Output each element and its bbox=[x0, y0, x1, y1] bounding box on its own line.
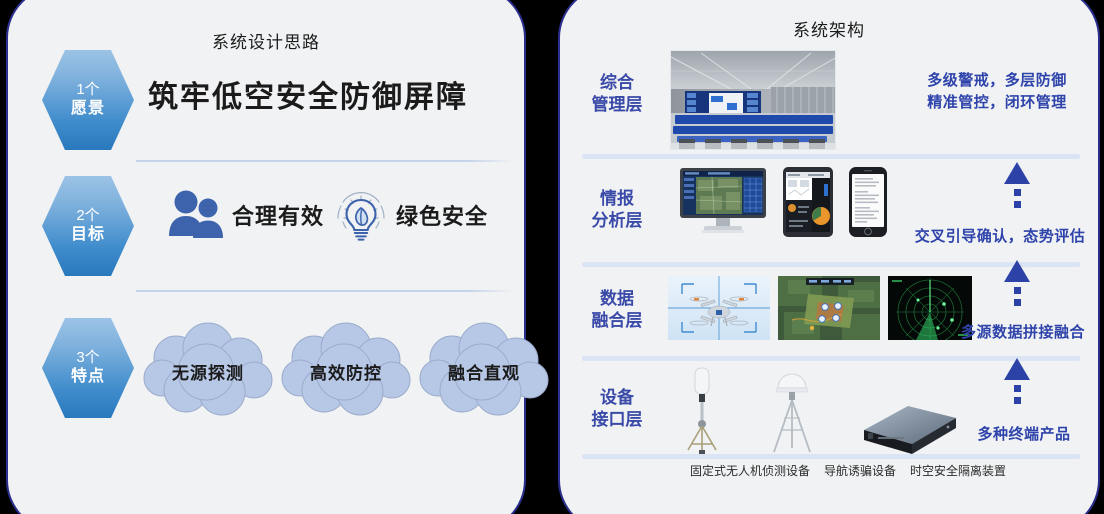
architecture-layer-data-fusion: 数据 融合层 bbox=[560, 266, 1098, 354]
arrow-dash-1 bbox=[1014, 385, 1021, 392]
fixed-antenna-device[interactable] bbox=[676, 364, 728, 461]
media-row-intelligence bbox=[678, 166, 888, 243]
layer-label-data-fusion-line1: 数据 bbox=[578, 288, 656, 310]
arrow-dash-2 bbox=[1014, 201, 1021, 208]
arrow-up-icon bbox=[1004, 358, 1030, 380]
hexagon-features-count: 3个 bbox=[76, 349, 99, 368]
layer-note-management-line1: 多级警戒，多层防御 bbox=[912, 70, 1082, 92]
architecture-layer-equipment: 设备 接口层 bbox=[560, 360, 1098, 458]
layer-note-intelligence-line1: 交叉引导确认，态势评估 bbox=[900, 226, 1100, 248]
layer-note-equipment-line1: 多种终端产品 bbox=[958, 424, 1090, 446]
layer-note-management-line2: 精准管控，闭环管理 bbox=[912, 92, 1082, 114]
divider-1 bbox=[136, 160, 514, 162]
hexagon-vision-count: 1个 bbox=[76, 81, 99, 100]
arrow-up-icon bbox=[1004, 162, 1030, 184]
people-icon bbox=[166, 186, 228, 244]
flow-arrow-data-fusion bbox=[1004, 260, 1030, 306]
design-approach-panel: 系统设计思路 1个 愿景 筑牢低空安全防御屏障 2个 目标 bbox=[6, 0, 526, 514]
goal-item-green[interactable]: 绿色安全 bbox=[330, 184, 488, 246]
layer-label-data-fusion-line2: 融合层 bbox=[578, 310, 656, 332]
vision-row: 1个 愿景 筑牢低空安全防御屏障 bbox=[8, 50, 524, 162]
flow-arrow-equipment bbox=[1004, 358, 1030, 404]
control-room-photo[interactable] bbox=[670, 50, 836, 150]
layer-note-management: 多级警戒，多层防御 精准管控，闭环管理 bbox=[912, 70, 1082, 114]
feature-cloud-2-label: 高效防控 bbox=[310, 359, 382, 384]
media-row-management bbox=[670, 50, 836, 150]
hexagon-features[interactable]: 3个 特点 bbox=[42, 318, 134, 418]
layer-note-intelligence: 交叉引导确认，态势评估 bbox=[900, 226, 1100, 248]
layer-label-intelligence: 情报 分析层 bbox=[578, 188, 656, 232]
satellite-map-photo[interactable] bbox=[778, 276, 880, 345]
layer-label-data-fusion: 数据 融合层 bbox=[578, 288, 656, 332]
goals-list: 合理有效 bbox=[166, 184, 488, 246]
slide-canvas: 系统设计思路 1个 愿景 筑牢低空安全防御屏障 2个 目标 bbox=[0, 0, 1104, 514]
arrow-dash-2 bbox=[1014, 397, 1021, 404]
layer-label-equipment-line2: 接口层 bbox=[578, 409, 656, 431]
architecture-layer-management: 综合 管理层 bbox=[560, 38, 1098, 150]
dome-antenna-tripod[interactable] bbox=[764, 364, 820, 461]
equipment-caption-2: 导航诱骗设备 bbox=[824, 462, 896, 479]
layer-label-management-line2: 管理层 bbox=[578, 94, 656, 116]
layer-separator-4 bbox=[582, 454, 1080, 459]
arrow-up-icon bbox=[1004, 260, 1030, 282]
layer-label-equipment-line1: 设备 bbox=[578, 387, 656, 409]
feature-cloud-1[interactable]: 无源探测 bbox=[142, 318, 274, 424]
layer-label-equipment: 设备 接口层 bbox=[578, 387, 656, 431]
goal-label-effective: 合理有效 bbox=[232, 199, 324, 231]
tablet-dashboard[interactable] bbox=[782, 166, 834, 243]
feature-cloud-3[interactable]: 融合直观 bbox=[418, 318, 550, 424]
rack-server-device[interactable] bbox=[856, 400, 960, 461]
hexagon-goals-label: 目标 bbox=[71, 225, 105, 245]
layer-label-management-line1: 综合 bbox=[578, 72, 656, 94]
smartphone-document[interactable] bbox=[848, 166, 888, 243]
goal-item-effective[interactable]: 合理有效 bbox=[166, 186, 324, 244]
arrow-dash-1 bbox=[1014, 189, 1021, 196]
hexagon-goals[interactable]: 2个 目标 bbox=[42, 176, 134, 276]
goals-row: 2个 目标 合理有效 bbox=[8, 176, 524, 276]
layer-note-equipment: 多种终端产品 bbox=[958, 424, 1090, 446]
architecture-layer-intelligence: 情报 分析层 bbox=[560, 160, 1098, 260]
layer-separator-1 bbox=[582, 154, 1080, 159]
layer-label-intelligence-line1: 情报 bbox=[578, 188, 656, 210]
hexagon-features-label: 特点 bbox=[71, 367, 105, 387]
media-row-data-fusion bbox=[668, 276, 972, 345]
flow-arrow-intelligence bbox=[1004, 162, 1030, 208]
equipment-caption-1: 固定式无人机侦测设备 bbox=[690, 462, 810, 479]
layer-label-intelligence-line2: 分析层 bbox=[578, 210, 656, 232]
feature-cloud-3-label: 融合直观 bbox=[448, 359, 520, 384]
layer-label-management: 综合 管理层 bbox=[578, 72, 656, 116]
layer-note-data-fusion-line1: 多源数据拼接融合 bbox=[948, 322, 1098, 344]
desktop-monitor-map[interactable] bbox=[678, 166, 768, 243]
goal-label-green: 绿色安全 bbox=[396, 199, 488, 231]
feature-cloud-1-label: 无源探测 bbox=[172, 359, 244, 384]
equipment-caption-row: 固定式无人机侦测设备 导航诱骗设备 时空安全隔离装置 bbox=[638, 462, 1058, 479]
arrow-dash-2 bbox=[1014, 299, 1021, 306]
layer-note-data-fusion: 多源数据拼接融合 bbox=[948, 322, 1098, 344]
features-cloud-list: 无源探测 高效防控 bbox=[142, 318, 550, 424]
drone-crosshair-photo[interactable] bbox=[668, 276, 770, 345]
equipment-caption-3: 时空安全隔离装置 bbox=[910, 462, 1006, 479]
hexagon-vision[interactable]: 1个 愿景 bbox=[42, 50, 134, 150]
lightbulb-leaf-icon bbox=[330, 184, 392, 246]
divider-2 bbox=[136, 290, 514, 292]
features-row: 3个 特点 无源探测 bbox=[8, 318, 524, 428]
media-row-equipment bbox=[676, 364, 960, 461]
system-architecture-panel: 系统架构 综合 管理层 bbox=[558, 0, 1100, 514]
feature-cloud-2[interactable]: 高效防控 bbox=[280, 318, 412, 424]
vision-headline: 筑牢低空安全防御屏障 bbox=[148, 72, 468, 116]
arrow-dash-1 bbox=[1014, 287, 1021, 294]
hexagon-vision-label: 愿景 bbox=[71, 99, 105, 119]
hexagon-goals-count: 2个 bbox=[76, 207, 99, 226]
